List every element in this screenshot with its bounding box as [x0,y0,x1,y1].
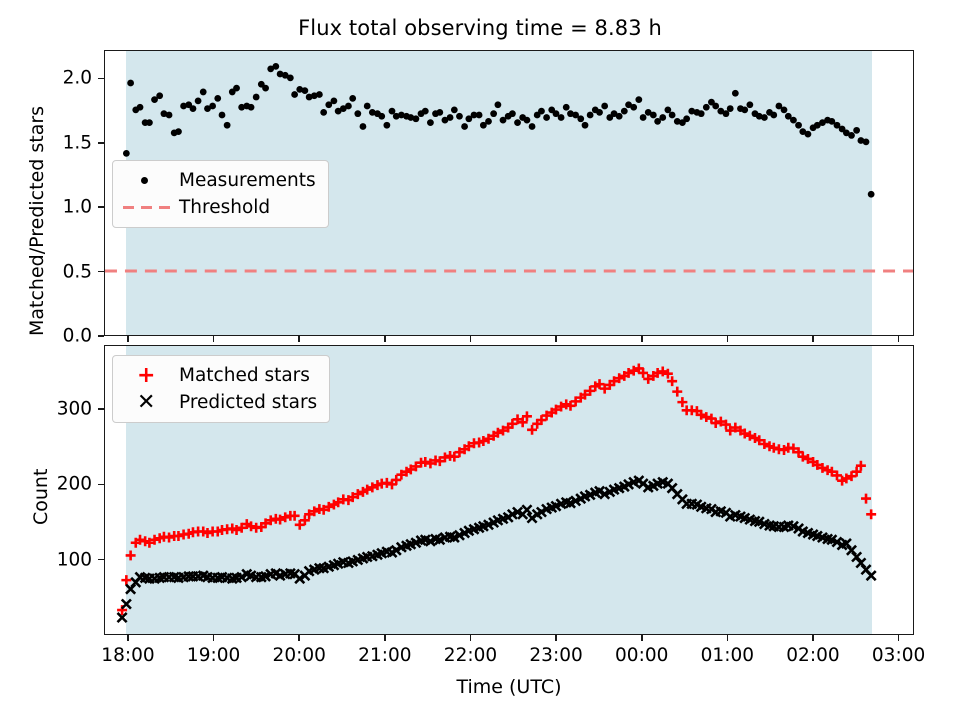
x-tick-mark [555,635,557,641]
matched-stars-marker-icon: + [121,365,175,387]
x-tick-label: 21:00 [358,645,411,666]
x-tick-mark [470,635,472,641]
y-tick-mark [98,206,104,208]
measurements-marker-icon [121,170,175,192]
x-tick-label: 01:00 [701,645,754,666]
x-tick-mark [384,635,386,641]
legend-label-threshold: Threshold [175,197,270,218]
x-tick-label: 00:00 [615,645,668,666]
x-tick-mark [127,635,129,641]
ratio-panel-legend[interactable]: Measurements Threshold [112,160,329,228]
x-tick-mark-top-panel [727,336,729,342]
x-tick-mark-top-panel [298,336,300,342]
y-tick-label: 300 [0,399,92,420]
y-tick-label: 1.5 [0,132,92,153]
x-tick-mark [727,635,729,641]
legend-item-predicted-stars[interactable]: ✕ Predicted stars [121,389,317,416]
y-tick-label: 200 [0,474,92,495]
legend-item-matched-stars[interactable]: + Matched stars [121,362,317,389]
x-tick-mark-top-panel [127,336,129,342]
x-tick-mark [898,635,900,641]
x-tick-mark-top-panel [213,336,215,342]
x-tick-label: 18:00 [101,645,154,666]
x-tick-mark-top-panel [555,336,557,342]
figure-canvas: Flux total observing time = 8.83 h Measu… [0,0,960,720]
chart-title: Flux total observing time = 8.83 h [0,16,960,40]
x-tick-label: 02:00 [786,645,839,666]
y-tick-mark [98,559,104,561]
y-tick-label: 0.5 [0,261,92,282]
y-tick-mark [98,484,104,486]
count-panel-legend[interactable]: + Matched stars ✕ Predicted stars [112,355,330,423]
x-tick-mark-top-panel [812,336,814,342]
y-tick-mark [98,142,104,144]
x-tick-label: 19:00 [187,645,240,666]
y-tick-mark [98,335,104,337]
y-tick-mark [98,271,104,273]
y-tick-mark [98,408,104,410]
threshold-line-icon [121,197,175,219]
x-tick-mark [812,635,814,641]
x-tick-label: 03:00 [872,645,925,666]
legend-item-threshold[interactable]: Threshold [121,194,316,221]
x-tick-mark [298,635,300,641]
x-tick-label: 22:00 [444,645,497,666]
legend-label-predicted-stars: Predicted stars [175,392,317,413]
x-tick-label: 20:00 [273,645,326,666]
x-tick-mark [641,635,643,641]
y-tick-label: 2.0 [0,68,92,89]
legend-label-measurements: Measurements [175,170,316,191]
predicted-stars-marker-icon: ✕ [121,392,175,414]
x-tick-mark [213,635,215,641]
legend-label-matched-stars: Matched stars [175,365,310,386]
legend-item-measurements[interactable]: Measurements [121,167,316,194]
y-tick-label: 1.0 [0,197,92,218]
x-tick-mark-top-panel [898,336,900,342]
y-tick-mark [98,78,104,80]
x-tick-label: 23:00 [529,645,582,666]
x-tick-mark-top-panel [641,336,643,342]
x-tick-mark-top-panel [470,336,472,342]
y-tick-label: 100 [0,549,92,570]
y-tick-label: 0.0 [0,326,92,347]
x-axis-label: Time (UTC) [104,676,914,698]
x-tick-mark-top-panel [384,336,386,342]
